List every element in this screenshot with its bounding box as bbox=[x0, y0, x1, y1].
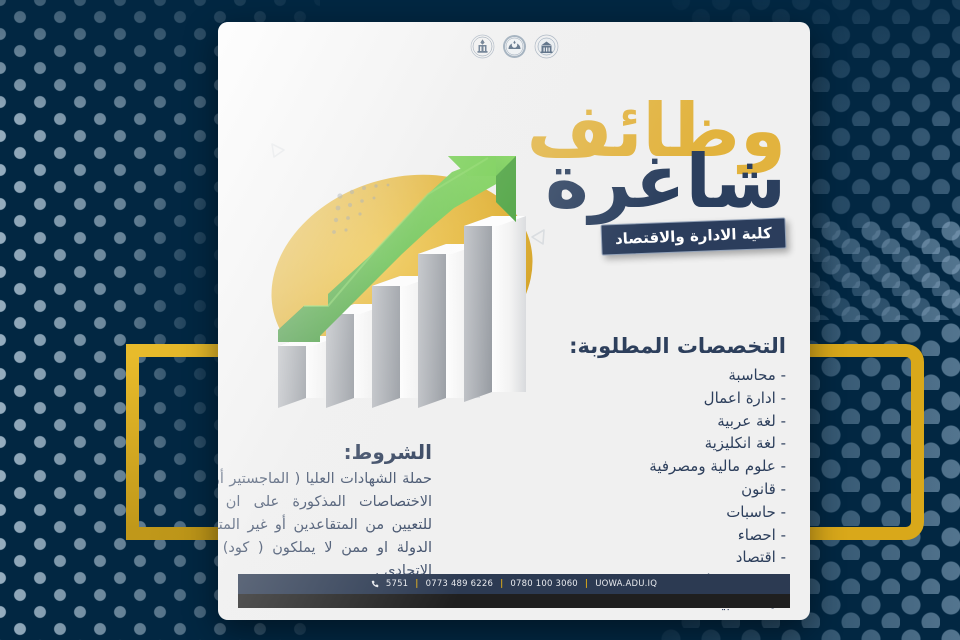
phone-icon bbox=[371, 580, 379, 588]
university-seal-icon bbox=[502, 34, 527, 59]
footer-separator: | bbox=[585, 579, 588, 589]
footer-separator: | bbox=[500, 579, 503, 589]
specialty-item: - حاسبات bbox=[456, 501, 786, 524]
college-seal-icon bbox=[534, 34, 559, 59]
conditions-section: الشروط: حملة الشهادات العليا ( الماجستير… bbox=[218, 440, 432, 583]
specialty-item: - قانون bbox=[456, 478, 786, 501]
footer-contact-bar: 5751|0773 489 6226|0780 100 3060|UOWA.AD… bbox=[238, 574, 790, 594]
specialties-title: التخصصات المطلوبة: bbox=[456, 334, 786, 358]
footer-contact-item[interactable]: UOWA.ADU.IQ bbox=[595, 579, 657, 589]
footer-separator: | bbox=[415, 579, 418, 589]
footer-contact-item[interactable]: 0773 489 6226 bbox=[426, 579, 494, 589]
conditions-body: حملة الشهادات العليا ( الماجستير أو الدك… bbox=[218, 468, 432, 583]
specialty-item: - اقتصاد bbox=[456, 546, 786, 569]
conditions-title: الشروط: bbox=[218, 440, 432, 464]
college-badge: كلية الادارة والاقتصاد bbox=[601, 217, 787, 255]
logo-row bbox=[218, 34, 810, 59]
headline-block: وظائف شاغرة كلية الادارة والاقتصاد bbox=[456, 100, 786, 252]
footer-contact-item[interactable]: 0780 100 3060 bbox=[510, 579, 578, 589]
specialty-item: - علوم مالية ومصرفية bbox=[456, 455, 786, 478]
specialty-item: - ادارة اعمال bbox=[456, 387, 786, 410]
specialty-item: - لغة عربية bbox=[456, 410, 786, 433]
triangle-decor-left bbox=[266, 140, 288, 162]
ministry-seal-icon bbox=[470, 34, 495, 59]
specialties-section: التخصصات المطلوبة: - محاسبة- ادارة اعمال… bbox=[456, 334, 786, 615]
footer-dark-strip bbox=[238, 594, 790, 608]
specialty-item: - احصاء bbox=[456, 524, 786, 547]
specialty-item: - لغة انكليزية bbox=[456, 432, 786, 455]
footer-contact-item[interactable]: 5751 bbox=[386, 579, 408, 589]
poster-card: وظائف شاغرة كلية الادارة والاقتصاد التخص… bbox=[218, 22, 810, 620]
specialty-item: - محاسبة bbox=[456, 364, 786, 387]
headline-navy: شاغرة bbox=[456, 150, 786, 215]
